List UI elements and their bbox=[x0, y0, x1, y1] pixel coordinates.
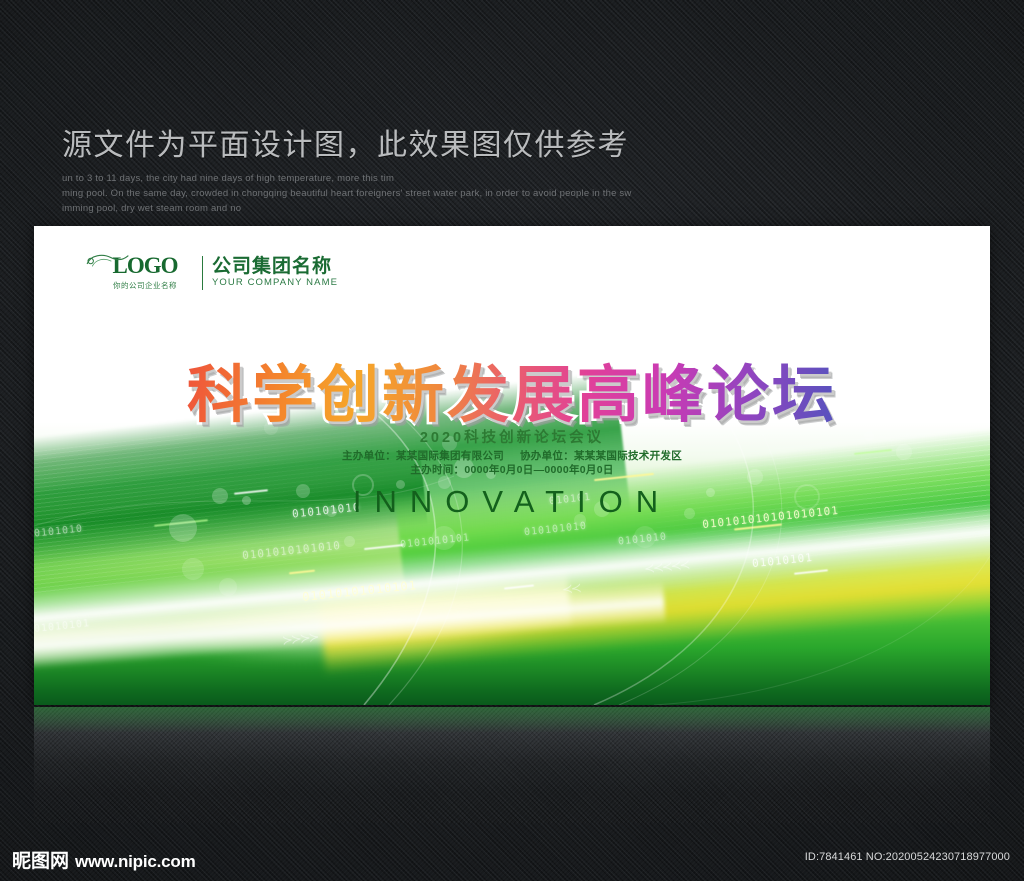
company-name-cn: 公司集团名称 bbox=[212, 257, 338, 277]
bokeh-circle bbox=[219, 578, 237, 596]
logo-divider bbox=[202, 256, 203, 290]
disclaimer-caption: 源文件为平面设计图，此效果图仅供参考 un to 3 to 11 days, t… bbox=[62, 120, 762, 216]
poster-subtitle: 2020科技创新论坛会议 bbox=[34, 426, 990, 447]
coorganizer-text: 协办单位：某某某国际技术开发区 bbox=[520, 450, 682, 462]
nipic-url: www.nipic.com bbox=[75, 852, 196, 872]
footer-watermark-bar: 昵图网 www.nipic.com ID:7841461 NO:20200524… bbox=[0, 835, 1024, 881]
company-name-block: 公司集团名称 YOUR COMPANY NAME bbox=[212, 257, 338, 289]
poster-datetime: 主办时间：0000年0月0日—0000年0月0日 bbox=[34, 462, 990, 477]
bokeh-circle bbox=[182, 558, 204, 580]
chevron-left-icon: ≺≺ bbox=[561, 580, 580, 598]
logo-subtext: 你的公司企业名称 bbox=[97, 280, 193, 291]
disclaimer-en-line-3: imming pool, dry wet steam room and no bbox=[62, 201, 722, 216]
swirl-flourish-icon bbox=[85, 250, 137, 272]
disclaimer-cn-text: 源文件为平面设计图，此效果图仅供参考 bbox=[62, 120, 762, 164]
logo-mark: LOGO 你的公司企业名称 bbox=[97, 254, 193, 291]
company-name-en: YOUR COMPANY NAME bbox=[212, 278, 338, 288]
poster-artwork: 0101010101010 010101010 01010101010101 0… bbox=[34, 226, 990, 705]
disclaimer-en-line-1: un to 3 to 11 days, the city had nine da… bbox=[62, 171, 722, 186]
organizer-text: 主办单位：某某国际集团有限公司 bbox=[342, 450, 504, 462]
disclaimer-en-line-2: ming pool. On the same day, crowded in c… bbox=[62, 186, 722, 201]
poster-reflection-green-tint bbox=[34, 707, 990, 733]
poster-title: 科学创新发展高峰论坛 bbox=[34, 344, 990, 434]
asset-id-number: ID:7841461 NO:20200524230718977000 bbox=[805, 851, 1010, 863]
poster-organizers: 主办单位：某某国际集团有限公司协办单位：某某某国际技术开发区 bbox=[34, 448, 990, 463]
poster-tagline: INNOVATION bbox=[34, 484, 990, 520]
nipic-branding: 昵图网 www.nipic.com bbox=[12, 846, 196, 873]
bokeh-circle bbox=[344, 536, 355, 547]
nipic-name-cn: 昵图网 bbox=[12, 846, 69, 873]
disclaimer-en-text: un to 3 to 11 days, the city had nine da… bbox=[62, 171, 722, 216]
company-logo: LOGO 你的公司企业名称 公司集团名称 YOUR COMPANY NAME bbox=[97, 254, 338, 291]
